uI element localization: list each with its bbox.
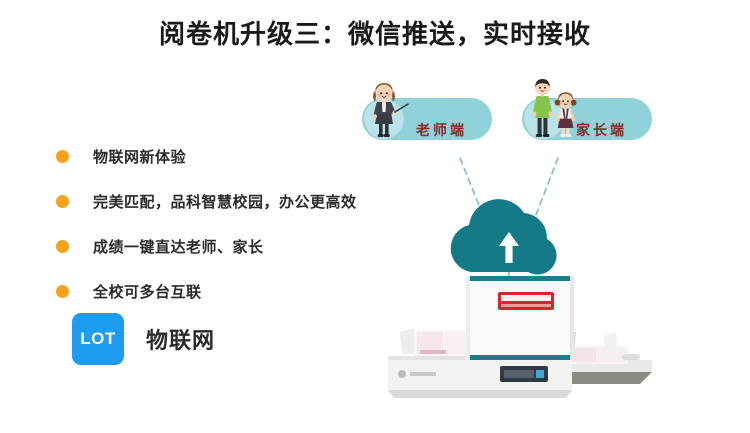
bullet-dot-icon	[56, 195, 69, 208]
diagram-canvas	[340, 60, 740, 420]
bullet-dot-icon	[56, 240, 69, 253]
bullet-dot-icon	[56, 150, 69, 163]
iot-flow-diagram: 老师端 家长端	[340, 60, 740, 420]
list-item: 全校可多台互联	[56, 273, 356, 309]
bullet-dot-icon	[56, 285, 69, 298]
iot-badge-icon: LOT	[72, 313, 124, 365]
feature-bullet-list: 物联网新体验 完美匹配，品科智慧校园，办公更高效 成绩一键直达老师、家长 全校可…	[56, 138, 356, 318]
parent-pill-label: 家长端	[576, 120, 627, 140]
list-item: 物联网新体验	[56, 138, 356, 174]
iot-label: 物联网	[146, 323, 215, 355]
list-item-label: 完美匹配，品科智慧校园，办公更高效	[93, 191, 357, 212]
omr-scanner-icon	[388, 276, 652, 398]
list-item-label: 成绩一键直达老师、家长	[93, 236, 264, 257]
connector-cloud-to-parent	[532, 158, 558, 225]
slide-canvas: 阅卷机升级三：微信推送，实时接收 物联网新体验 完美匹配，品科智慧校园，办公更高…	[0, 0, 750, 433]
list-item-label: 全校可多台互联	[93, 281, 202, 302]
teacher-pill-label: 老师端	[416, 120, 467, 140]
list-item-label: 物联网新体验	[93, 146, 186, 167]
cloud-upload-icon	[451, 199, 557, 274]
list-item: 成绩一键直达老师、家长	[56, 228, 356, 264]
list-item: 完美匹配，品科智慧校园，办公更高效	[56, 183, 356, 219]
iot-badge-block: LOT 物联网	[72, 313, 215, 365]
page-title: 阅卷机升级三：微信推送，实时接收	[0, 14, 750, 51]
